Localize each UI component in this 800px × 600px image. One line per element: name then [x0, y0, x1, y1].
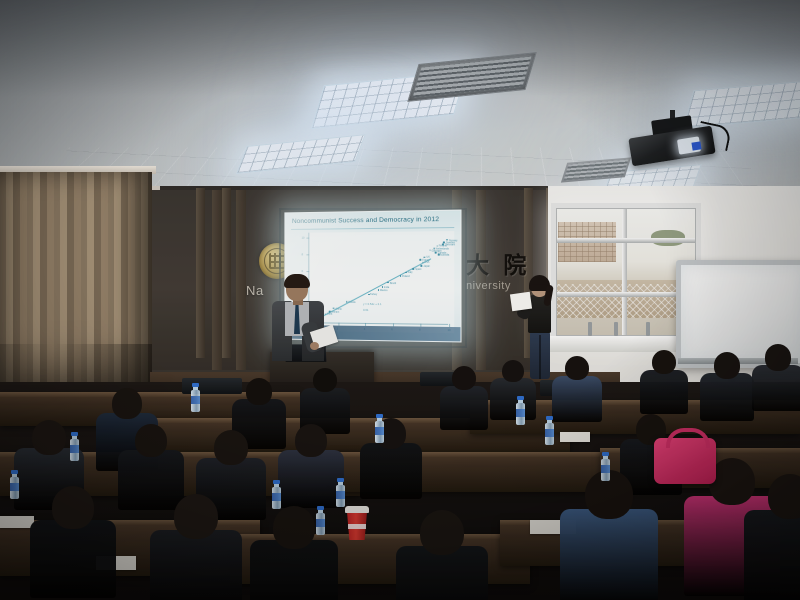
- audience-member-torso: [560, 509, 658, 600]
- desk-papers: [560, 432, 590, 442]
- audience-member-head: [565, 356, 589, 380]
- scatter-point: [405, 272, 407, 274]
- y-axis-tick: [306, 254, 309, 255]
- audience-member-torso: [440, 386, 488, 430]
- audience-member-torso: [552, 376, 602, 422]
- audience-member: [396, 510, 488, 600]
- scatter-point-label: Vietnam: [331, 311, 339, 314]
- scatter-plot: y = 0.54x + 2.1 0.61 NorwaySwedenDenmark…: [308, 231, 454, 333]
- scatter-points-layer: NorwaySwedenDenmarkFinlandGermanyNetherl…: [308, 231, 454, 233]
- audience-member-head: [135, 424, 167, 457]
- y-axis-tick-label: 10: [302, 237, 305, 240]
- scatter-point-label: Poland: [402, 275, 409, 278]
- audience-member: [490, 360, 536, 424]
- scatter-point: [419, 259, 421, 261]
- audience-member: [700, 352, 754, 426]
- axis-ticks-layer: 02468100246810: [308, 231, 454, 233]
- scatter-point-label: USA: [425, 261, 430, 264]
- audience-member: [640, 350, 688, 418]
- audience-member: [278, 424, 344, 514]
- scatter-point: [435, 252, 437, 254]
- audience-member: [30, 486, 116, 600]
- scatter-point-label: Australia: [440, 253, 450, 256]
- audience-member: [752, 344, 800, 416]
- window-handle[interactable]: [614, 322, 618, 336]
- audience-member-head: [52, 486, 94, 529]
- desk-papers: [0, 516, 34, 528]
- audience-member-head: [452, 366, 476, 390]
- audience-member-torso: [490, 378, 536, 420]
- y-axis-tick-label: 8: [302, 253, 303, 256]
- audience-member-head: [652, 350, 676, 374]
- presenter-hand: [310, 342, 319, 350]
- slide-title: Noncommunist Success and Democracy in 20…: [292, 216, 456, 225]
- audience-member-torso: [278, 450, 344, 508]
- y-axis-tick: [306, 271, 309, 272]
- glasses-icon: [287, 285, 307, 290]
- audience-member-torso: [640, 370, 688, 414]
- window-curtain[interactable]: [0, 172, 152, 398]
- wall-beam: [196, 188, 205, 358]
- audience-member: [360, 418, 422, 504]
- lecture-hall-photo: Na 大 院 niversity Noncommunist Success an…: [0, 0, 800, 600]
- scatter-point: [421, 265, 423, 267]
- standing-attendee-leg-split: [539, 335, 541, 379]
- water-bottle[interactable]: [375, 414, 384, 443]
- water-bottle[interactable]: [272, 480, 281, 509]
- y-axis-tick: [306, 238, 309, 239]
- slide-title-rule: [291, 227, 454, 230]
- scatter-point-label: Russia: [349, 301, 356, 304]
- glasses-icon: [532, 284, 547, 288]
- audience-member-head: [768, 474, 800, 519]
- audience-member-torso: [30, 520, 116, 598]
- audience-member-head: [714, 352, 740, 379]
- wall-university-name-english: niversity: [466, 280, 511, 292]
- scatter-point: [424, 256, 426, 258]
- wall-university-name-chinese: 大 院: [466, 246, 530, 280]
- y-axis-tick-label: 6: [302, 270, 303, 273]
- scatter-point-label: Mexico: [380, 289, 388, 292]
- audience-member-head: [502, 360, 524, 382]
- water-bottle[interactable]: [316, 506, 325, 535]
- window-handle[interactable]: [588, 322, 592, 336]
- audience-member: [440, 366, 488, 434]
- water-bottle[interactable]: [545, 416, 554, 445]
- scatter-point-label: Brazil: [390, 282, 396, 285]
- audience-member-head: [174, 494, 218, 539]
- wall-beam: [222, 188, 231, 358]
- audience-member-head: [112, 388, 142, 419]
- water-bottle[interactable]: [191, 383, 200, 412]
- pink-handbag[interactable]: [654, 438, 716, 484]
- scatter-point-label: Netherlands: [436, 247, 449, 250]
- water-bottle[interactable]: [10, 470, 19, 499]
- scatter-point-label: Turkey: [370, 293, 377, 296]
- ceiling-projector: [630, 130, 716, 170]
- water-bottle[interactable]: [70, 432, 79, 461]
- audience-member: [552, 356, 602, 426]
- trendline-equation: y = 0.54x + 2.1: [363, 302, 381, 306]
- scatter-point-label: Italy: [408, 272, 412, 275]
- audience-member-head: [214, 430, 248, 465]
- audience-member-torso: [752, 365, 800, 411]
- scatter-point-label: Japan: [423, 265, 430, 268]
- audience-member: [744, 474, 800, 600]
- audience-member-head: [246, 378, 272, 405]
- scatter-point: [436, 245, 438, 247]
- audience-member-torso: [360, 443, 422, 499]
- audience-member-head: [295, 424, 327, 457]
- audience-member-head: [420, 510, 464, 555]
- trendline-r2: 0.61: [363, 308, 368, 312]
- water-bottle[interactable]: [601, 452, 610, 481]
- scatter-point: [387, 282, 389, 284]
- window-handle[interactable]: [646, 322, 650, 336]
- audience-member-torso: [250, 540, 338, 600]
- audience-member-torso: [744, 510, 800, 600]
- window: [556, 208, 696, 336]
- scatter-point-label: Spain: [415, 268, 421, 271]
- audience-member-torso: [700, 373, 754, 421]
- water-bottle[interactable]: [516, 396, 525, 425]
- red-takeaway-cup[interactable]: [346, 506, 368, 540]
- audience-member-torso: [150, 530, 242, 600]
- audience-member-head: [273, 506, 315, 549]
- standing-attendee-handout: [510, 292, 532, 312]
- audience-member-head: [313, 368, 337, 392]
- scatter-point: [412, 268, 414, 270]
- audience-member: [560, 470, 658, 600]
- scatter-point: [378, 289, 380, 291]
- water-bottle[interactable]: [336, 478, 345, 507]
- audience-member: [150, 494, 242, 600]
- wall-university-name-latin: Na: [246, 283, 264, 298]
- audience-member-head: [765, 344, 791, 371]
- audience-member-head: [32, 420, 66, 455]
